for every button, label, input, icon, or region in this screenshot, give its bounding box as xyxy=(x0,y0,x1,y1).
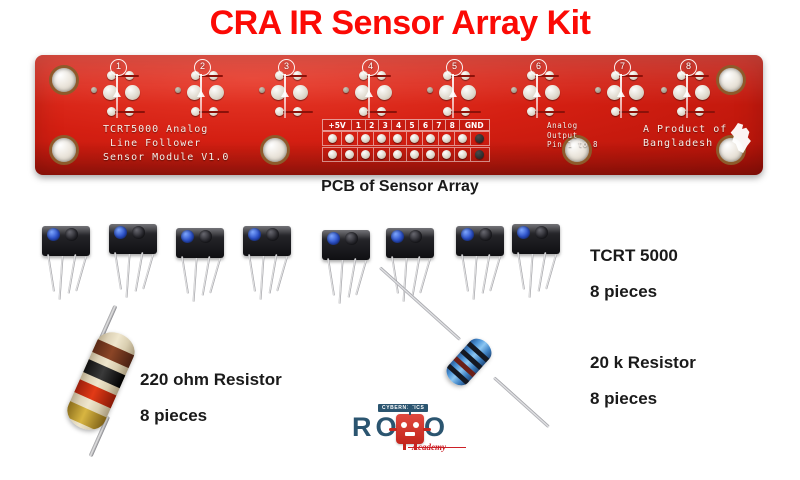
pin-label-7: 7 xyxy=(432,119,445,131)
silkscreen-module-name: TCRT5000 Analog Line Follower Sensor Mod… xyxy=(103,123,229,165)
sensor-footprint-1: 1 xyxy=(93,63,159,125)
ir-detector-icon xyxy=(65,228,78,241)
ir-detector-icon xyxy=(535,226,548,239)
resistor-220-ohm xyxy=(55,308,151,454)
tcrt5000-sensor xyxy=(239,226,297,304)
resistor-20k-quantity: 8 pieces xyxy=(590,381,696,417)
tcrt5000-sensor xyxy=(172,228,230,306)
silkscreen-product-origin: A Product of Bangladesh xyxy=(643,123,727,151)
sensor-number-badge: 2 xyxy=(194,59,211,76)
ir-emitter-led-icon xyxy=(461,228,474,241)
pin-label-gnd: GND xyxy=(459,119,490,131)
pin-label-2: 2 xyxy=(365,119,378,131)
resistor-body xyxy=(442,334,496,390)
sensor-number-badge: 8 xyxy=(680,59,697,76)
sensor-pointer-arrow xyxy=(536,74,538,118)
ir-detector-icon xyxy=(345,232,358,245)
sensor-number-badge: 1 xyxy=(110,59,127,76)
ir-emitter-led-icon xyxy=(114,226,127,239)
resistor-body xyxy=(62,326,140,435)
pin-header-row-top xyxy=(322,131,490,146)
pin-label-5v: +5V xyxy=(322,119,351,131)
robot-leg-left xyxy=(403,443,406,450)
page-title: CRA IR Sensor Array Kit xyxy=(0,4,800,43)
sensor-number-badge: 6 xyxy=(530,59,547,76)
robot-arm-left xyxy=(389,428,397,431)
resistor-lead xyxy=(493,376,550,427)
resistor-20k-name: 20 k Resistor xyxy=(590,345,696,381)
pcb-caption: PCB of Sensor Array xyxy=(0,178,800,196)
robot-antenna xyxy=(409,408,411,415)
pin-header-row-bottom xyxy=(322,147,490,162)
robo-academy-logo: CYBERNETICS ROBO Academy xyxy=(352,400,470,458)
mounting-hole xyxy=(260,135,290,165)
sensor-footprint-8: 8 xyxy=(663,63,729,125)
robot-mouth xyxy=(405,432,415,436)
resistor-220-label: 220 ohm Resistor 8 pieces xyxy=(140,362,282,434)
sensor-footprint-6: 6 xyxy=(513,63,579,125)
sensor-pointer-arrow xyxy=(116,74,118,118)
ir-detector-icon xyxy=(132,226,145,239)
robot-mascot-icon xyxy=(396,414,424,444)
sensor-pointer-arrow xyxy=(200,74,202,118)
resistor-220-name: 220 ohm Resistor xyxy=(140,362,282,398)
ir-detector-icon xyxy=(266,228,279,241)
logo-top-text: CYBERNETICS xyxy=(378,404,428,412)
sensor-pointer-arrow xyxy=(686,74,688,118)
sensor-number-badge: 3 xyxy=(278,59,295,76)
tcrt5000-sensor xyxy=(38,226,96,304)
product-image-canvas: CRA IR Sensor Array Kit 1 xyxy=(0,0,800,480)
sensor-number-badge: 4 xyxy=(362,59,379,76)
resistor-220-quantity: 8 pieces xyxy=(140,398,282,434)
resistor-20k-label: 20 k Resistor 8 pieces xyxy=(590,345,696,417)
sensor-number-badge: 5 xyxy=(446,59,463,76)
pin-label-5: 5 xyxy=(405,119,418,131)
silkscreen-analog-output: Analog Output Pin 1 to 8 xyxy=(547,121,598,150)
pin-header-labels: +5V 1 2 3 4 5 6 7 8 GND xyxy=(322,119,490,131)
ir-emitter-led-icon xyxy=(517,226,530,239)
tcrt-part-quantity: 8 pieces xyxy=(590,274,678,310)
tcrt5000-sensor xyxy=(318,230,376,308)
color-band-gold xyxy=(64,401,107,432)
sensor-pointer-arrow xyxy=(284,74,286,118)
sensor-footprint-4: 4 xyxy=(345,63,411,125)
sensor-pointer-arrow xyxy=(368,74,370,118)
robot-eye-right xyxy=(413,422,419,428)
ir-emitter-led-icon xyxy=(47,228,60,241)
pin-label-8: 8 xyxy=(445,119,458,131)
pin-label-3: 3 xyxy=(378,119,391,131)
ir-detector-icon xyxy=(409,230,422,243)
tcrt5000-sensor xyxy=(105,224,163,302)
sensor-footprint-3: 3 xyxy=(261,63,327,125)
pin-label-1: 1 xyxy=(351,119,364,131)
resistor-lead xyxy=(379,266,461,340)
sensor-number-badge: 7 xyxy=(614,59,631,76)
pin-header-pad-rows xyxy=(322,131,490,163)
pin-label-4: 4 xyxy=(391,119,404,131)
ir-emitter-led-icon xyxy=(327,232,340,245)
sensor-footprint-7: 7 xyxy=(597,63,663,125)
robot-eye-left xyxy=(401,422,407,428)
sensor-pointer-arrow xyxy=(620,74,622,118)
robot-arm-right xyxy=(423,428,431,431)
sensor-footprint-2: 2 xyxy=(177,63,243,125)
ir-detector-icon xyxy=(199,230,212,243)
sensor-footprint-5: 5 xyxy=(429,63,495,125)
mounting-hole xyxy=(49,135,79,165)
tcrt-part-name: TCRT 5000 xyxy=(590,238,678,274)
ir-emitter-led-icon xyxy=(391,230,404,243)
pin-header-connector: +5V 1 2 3 4 5 6 7 8 GND xyxy=(322,119,490,163)
ir-detector-icon xyxy=(479,228,492,241)
ir-emitter-led-icon xyxy=(248,228,261,241)
pin-label-6: 6 xyxy=(418,119,431,131)
sensor-pointer-arrow xyxy=(452,74,454,118)
logo-bottom-text: Academy xyxy=(412,442,446,452)
pcb-board: 1 2 3 xyxy=(35,55,763,175)
mounting-hole xyxy=(49,65,79,95)
tcrt-part-label: TCRT 5000 8 pieces xyxy=(590,238,678,310)
ir-emitter-led-icon xyxy=(181,230,194,243)
